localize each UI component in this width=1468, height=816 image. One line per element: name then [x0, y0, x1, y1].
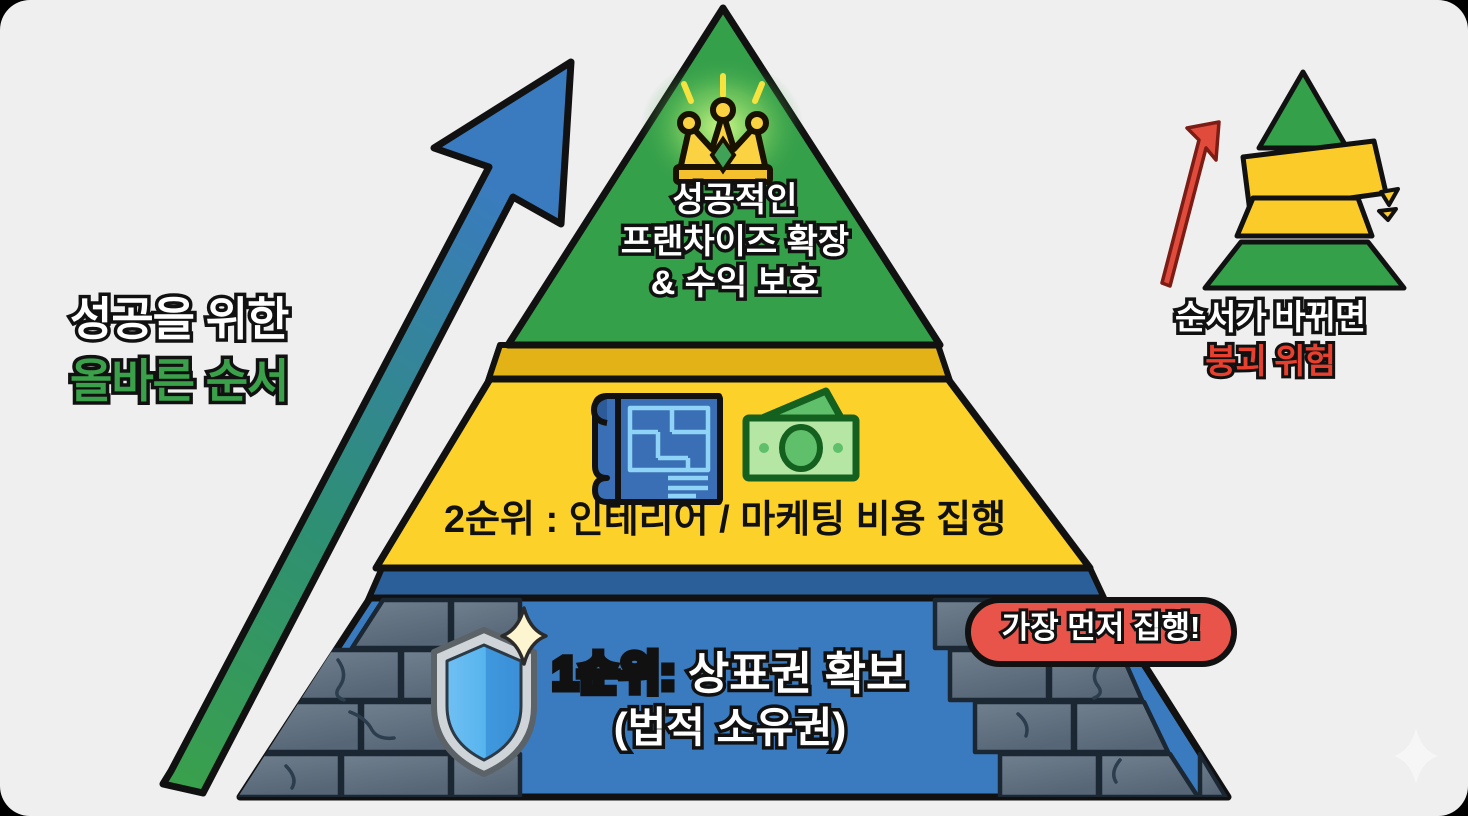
tier-bottom-label-line1: 1순위: 상표권 확보 — [470, 650, 990, 699]
blueprint-icon — [594, 396, 720, 502]
tier-bottom-label-rest: 상표권 확보 — [675, 648, 907, 699]
infographic-canvas: 성공을 위한 올바른 순서 순서가 바뀌면 붕괴 위험 성공적인 프랜차이즈 확… — [0, 0, 1468, 816]
left-caption-line1: 성공을 위한 — [70, 295, 288, 345]
tier-bottom-label: 1순위: 상표권 확보 (법적 소유권) — [470, 650, 990, 750]
tier-bottom-label-highlight: 1순위: — [553, 648, 676, 699]
tier-top-label-line2: 프랜차이즈 확장 — [565, 224, 905, 261]
corner-sparkle-icon — [1394, 728, 1438, 784]
tier-top-label-line3: & 수익 보호 — [565, 265, 905, 302]
callout-bubble-text: 가장 먼저 집행! — [968, 611, 1234, 644]
left-caption-line2: 올바른 순서 — [70, 357, 288, 407]
right-caption: 순서가 바뀌면 붕괴 위험 — [1175, 300, 1365, 380]
right-caption-line2: 붕괴 위험 — [1175, 344, 1365, 381]
crown-icon — [676, 100, 770, 182]
tier-bottom-label-line2: (법적 소유권) — [470, 705, 990, 750]
left-caption: 성공을 위한 올바른 순서 — [70, 295, 288, 406]
collapsing-pyramid-diagram — [1162, 72, 1404, 288]
tier-top-label-line1: 성공적인 — [565, 182, 905, 219]
tier-top-label: 성공적인 프랜차이즈 확장 & 수익 보호 — [565, 182, 905, 307]
right-caption-line1: 순서가 바뀌면 — [1175, 300, 1365, 337]
tier-middle-label: 2순위 : 인테리어 / 마케팅 비용 집행 — [370, 500, 1080, 541]
